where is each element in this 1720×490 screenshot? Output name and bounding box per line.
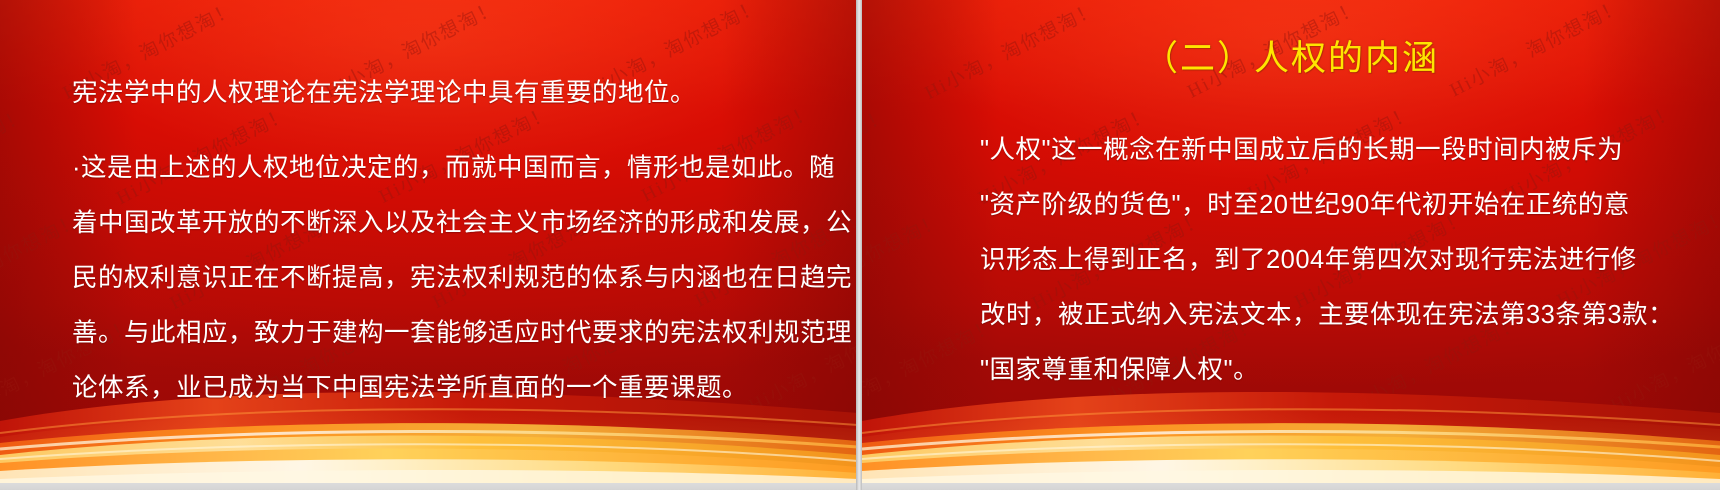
paragraph-spacer (72, 121, 772, 141)
slide-divider (856, 0, 862, 490)
left-body-text: 宪法学中的人权理论在宪法学理论中具有重要的地位。 ·这是由上述的人权地位决定的，… (72, 66, 772, 416)
bottom-gray-strip (862, 483, 1720, 490)
text-line: 善。与此相应，致力于建构一套能够适应时代要求的宪法权利规范理 (72, 306, 772, 361)
bottom-wave-decoration (862, 363, 1720, 483)
wave-svg (862, 363, 1720, 483)
text-line: 宪法学中的人权理论在宪法学理论中具有重要的地位。 (72, 66, 772, 121)
text-line: ·这是由上述的人权地位决定的，而就中国而言，情形也是如此。随 (72, 141, 772, 196)
left-slide[interactable]: Hi小淘，淘你想淘！Hi小淘，淘你想淘！Hi小淘，淘你想淘！Hi小淘，淘你想淘！… (0, 0, 858, 490)
text-line: 论体系，业已成为当下中国宪法学所直面的一个重要课题。 (72, 361, 772, 416)
slide-deck: Hi小淘，淘你想淘！Hi小淘，淘你想淘！Hi小淘，淘你想淘！Hi小淘，淘你想淘！… (0, 0, 1720, 490)
text-line: 着中国改革开放的不断深入以及社会主义市场经济的形成和发展，公 (72, 196, 772, 251)
left-slide-content: 宪法学中的人权理论在宪法学理论中具有重要的地位。 ·这是由上述的人权地位决定的，… (0, 0, 858, 490)
right-slide[interactable]: Hi小淘，淘你想淘！Hi小淘，淘你想淘！Hi小淘，淘你想淘！Hi小淘，淘你想淘！… (862, 0, 1720, 490)
text-line: 民的权利意识正在不断提高，宪法权利规范的体系与内涵也在日趋完 (72, 251, 772, 306)
